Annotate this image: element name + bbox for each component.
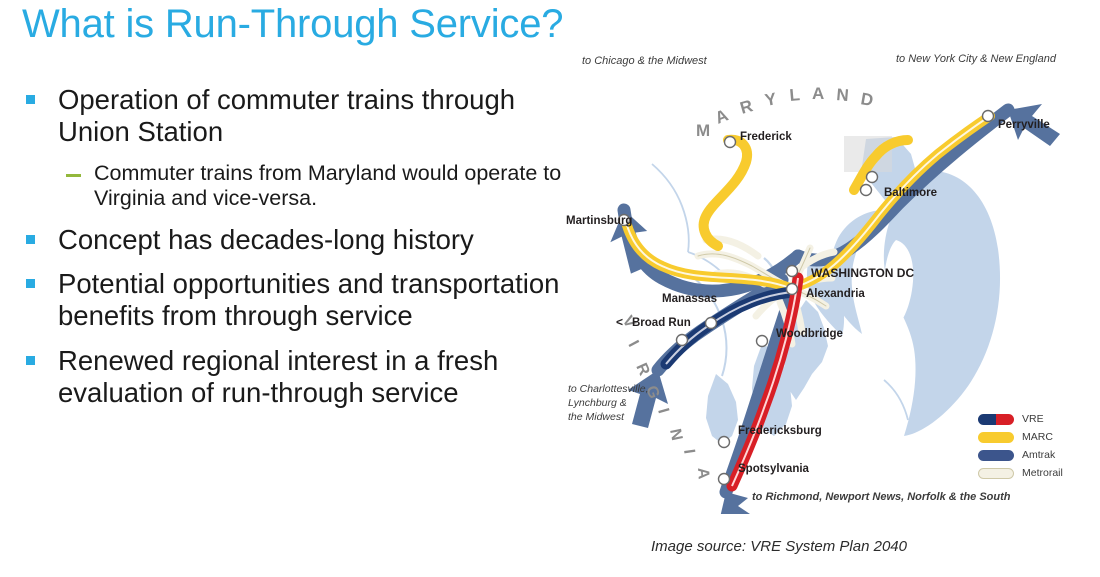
list-item: Operation of commuter trains through Uni… xyxy=(14,84,574,148)
legend-item-metrorail: Metrorail xyxy=(978,465,1090,481)
marc-color-swatch xyxy=(978,432,1014,443)
station-label-spotsylvania: Spotsylvania xyxy=(738,463,810,475)
station-label-woodbridge: Woodbridge xyxy=(776,328,843,340)
slide: What is Run-Through Service? Operation o… xyxy=(0,0,1100,577)
direction-label-midwest: the Midwest xyxy=(568,411,625,423)
bullet-text: Concept has decades-long history xyxy=(58,224,474,255)
bullet-text: Operation of commuter trains through Uni… xyxy=(58,84,515,147)
page-title: What is Run-Through Service? xyxy=(22,2,563,47)
station-dot-perryville xyxy=(983,111,994,122)
broad-run-arrow-icon: < xyxy=(616,315,623,329)
bullet-square-icon xyxy=(26,235,35,244)
legend-item-marc: MARC xyxy=(978,429,1090,445)
station-dot-manassas xyxy=(706,318,717,329)
station-dot-woodbridge xyxy=(757,336,768,347)
amtrak-color-swatch xyxy=(978,450,1014,461)
bullet-text: Renewed regional interest in a fresh eva… xyxy=(58,345,498,408)
svg-text:Y: Y xyxy=(763,89,779,110)
svg-text:R: R xyxy=(738,96,757,118)
direction-label-new-york: to New York City & New England xyxy=(896,53,1057,65)
svg-text:A: A xyxy=(694,467,712,482)
station-dot-spotsylvania xyxy=(719,474,730,485)
station-dot-alexandria xyxy=(787,284,798,295)
bullet-square-icon xyxy=(26,95,35,104)
bullet-text: Potential opportunities and transportati… xyxy=(58,268,559,331)
list-item: Commuter trains from Maryland would oper… xyxy=(14,161,574,212)
legend-label-vre: VRE xyxy=(1022,414,1044,425)
legend-label-marc: MARC xyxy=(1022,432,1053,443)
dash-icon xyxy=(66,174,81,177)
legend-item-vre: VRE xyxy=(978,411,1090,427)
station-label-fredericksburg: Fredericksburg xyxy=(738,425,822,437)
direction-label-charlottesville: to Charlottesville, xyxy=(568,383,649,395)
svg-text:N: N xyxy=(666,427,685,444)
station-label-alexandria: Alexandria xyxy=(806,288,865,300)
station-dot-broad-run xyxy=(677,335,688,346)
station-dot-fredericksburg xyxy=(719,437,730,448)
station-dot-frederick xyxy=(725,137,736,148)
list-item: Renewed regional interest in a fresh eva… xyxy=(14,345,574,409)
map-legend: VRE MARC Amtrak Metrorail xyxy=(978,411,1090,483)
station-label-baltimore: Baltimore xyxy=(884,187,937,199)
svg-text:M: M xyxy=(696,121,712,140)
direction-label-richmond: to Richmond, Newport News, Norfolk & the… xyxy=(752,491,1011,503)
bullet-square-icon xyxy=(26,279,35,288)
legend-label-metrorail: Metrorail xyxy=(1022,468,1063,479)
bullet-list: Operation of commuter trains through Uni… xyxy=(14,84,574,422)
subbullet-text: Commuter trains from Maryland would oper… xyxy=(94,161,561,210)
list-item: Concept has decades-long history xyxy=(14,224,574,256)
direction-label-lynchburg: Lynchburg & xyxy=(568,397,627,409)
station-dot-washington-dc xyxy=(787,266,798,277)
svg-text:D: D xyxy=(859,89,876,110)
station-dot-baltimore-2 xyxy=(861,185,872,196)
station-label-washington-dc: WASHINGTON DC xyxy=(811,266,914,280)
direction-label-chicago: to Chicago & the Midwest xyxy=(582,55,708,67)
svg-text:L: L xyxy=(789,85,803,105)
station-label-frederick: Frederick xyxy=(740,131,792,143)
station-label-manassas: Manassas xyxy=(662,293,717,305)
legend-label-amtrak: Amtrak xyxy=(1022,450,1055,461)
metrorail-color-swatch xyxy=(978,468,1014,479)
image-source-caption: Image source: VRE System Plan 2040 xyxy=(569,538,989,555)
svg-text:A: A xyxy=(812,84,826,103)
svg-text:I: I xyxy=(624,338,642,352)
vre-color-swatch xyxy=(978,414,1014,425)
station-dot-baltimore xyxy=(867,172,878,183)
svg-text:I: I xyxy=(680,448,698,457)
svg-text:A: A xyxy=(712,105,732,128)
legend-item-amtrak: Amtrak xyxy=(978,447,1090,463)
station-label-martinsburg: Martinsburg xyxy=(566,215,632,227)
list-item: Potential opportunities and transportati… xyxy=(14,268,574,332)
station-label-perryville: Perryville xyxy=(998,119,1050,131)
svg-text:N: N xyxy=(836,85,852,105)
svg-text:I: I xyxy=(654,406,672,417)
station-label-broad-run: Broad Run xyxy=(632,317,691,329)
bullet-square-icon xyxy=(26,356,35,365)
